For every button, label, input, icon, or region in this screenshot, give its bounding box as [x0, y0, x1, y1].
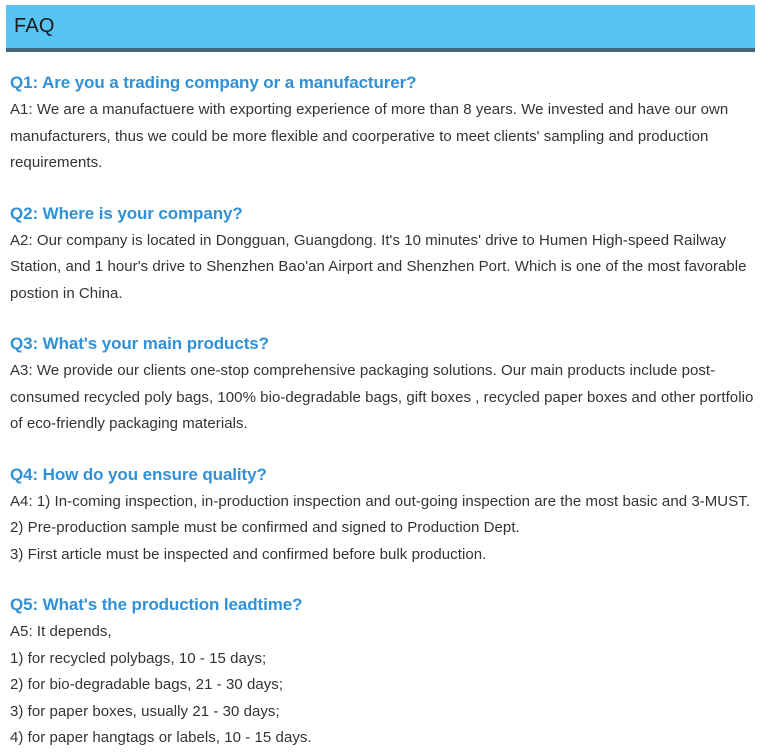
faq-answer: A2: Our company is located in Dongguan, …	[10, 228, 755, 308]
faq-question: Q1: Are you a trading company or a manuf…	[10, 70, 755, 96]
faq-list: Q1: Are you a trading company or a manuf…	[10, 70, 755, 752]
faq-answer: A4: 1) In-coming inspection, in-producti…	[10, 489, 755, 569]
faq-answer-line: 3) First article must be inspected and c…	[10, 542, 755, 569]
faq-header-bar: FAQ	[6, 5, 755, 52]
faq-answer-line: A5: It depends,	[10, 619, 755, 646]
faq-item: Q2: Where is your company? A2: Our compa…	[10, 201, 755, 308]
faq-answer-line: 3) for paper boxes, usually 21 - 30 days…	[10, 699, 755, 726]
faq-question: Q5: What's the production leadtime?	[10, 592, 755, 618]
faq-answer-line: 1) for recycled polybags, 10 - 15 days;	[10, 646, 755, 673]
faq-item: Q3: What's your main products? A3: We pr…	[10, 331, 755, 438]
faq-item: Q4: How do you ensure quality? A4: 1) In…	[10, 462, 755, 569]
faq-answer-line: 2) for bio-degradable bags, 21 - 30 days…	[10, 672, 755, 699]
faq-answer: A3: We provide our clients one-stop comp…	[10, 358, 755, 438]
faq-answer: A5: It depends, 1) for recycled polybags…	[10, 619, 755, 752]
faq-item: Q5: What's the production leadtime? A5: …	[10, 592, 755, 752]
faq-question: Q4: How do you ensure quality?	[10, 462, 755, 488]
faq-answer-line: A2: Our company is located in Dongguan, …	[10, 228, 755, 308]
faq-answer-line: A3: We provide our clients one-stop comp…	[10, 358, 755, 438]
faq-answer-line: 2) Pre-production sample must be confirm…	[10, 515, 755, 542]
faq-answer-line: A4: 1) In-coming inspection, in-producti…	[10, 489, 755, 516]
faq-page: FAQ Q1: Are you a trading company or a m…	[0, 0, 765, 748]
faq-answer-line: A1: We are a manufactuere with exporting…	[10, 97, 755, 177]
page-title: FAQ	[14, 13, 55, 39]
faq-question: Q2: Where is your company?	[10, 201, 755, 227]
faq-question: Q3: What's your main products?	[10, 331, 755, 357]
faq-answer: A1: We are a manufactuere with exporting…	[10, 97, 755, 177]
faq-item: Q1: Are you a trading company or a manuf…	[10, 70, 755, 177]
